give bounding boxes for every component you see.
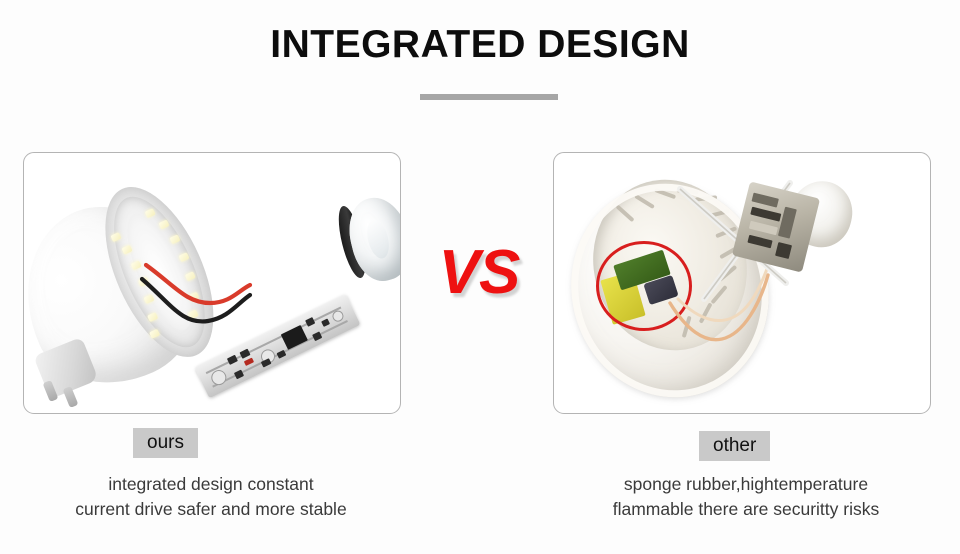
loose-wires — [554, 153, 930, 413]
pcb-ic — [281, 325, 308, 350]
caption-other-line2: flammable there are securitty risks — [536, 497, 956, 522]
product-panel-ours — [23, 152, 401, 414]
module-component — [750, 207, 781, 222]
caption-ours: integrated design constant current drive… — [1, 472, 421, 522]
caption-ours-line2: current drive safer and more stable — [1, 497, 421, 522]
pcb-component — [321, 318, 330, 326]
caption-other: sponge rubber,hightemperature flammable … — [536, 472, 956, 522]
module-component — [749, 221, 778, 236]
caption-other-line1: sponge rubber,hightemperature — [536, 472, 956, 497]
other-product-photo — [554, 153, 930, 413]
title-divider — [420, 94, 558, 100]
module-component — [751, 193, 778, 208]
page-title: INTEGRATED DESIGN — [0, 20, 960, 70]
vs-label: VS — [424, 238, 534, 308]
label-chip-ours: ours — [133, 428, 198, 458]
module-component — [778, 207, 797, 239]
product-panel-other — [553, 152, 931, 414]
caption-ours-line1: integrated design constant — [1, 472, 421, 497]
ours-product-photo — [24, 153, 400, 413]
module-component — [747, 235, 772, 249]
label-chip-other: other — [699, 431, 770, 461]
module-component — [775, 242, 792, 259]
